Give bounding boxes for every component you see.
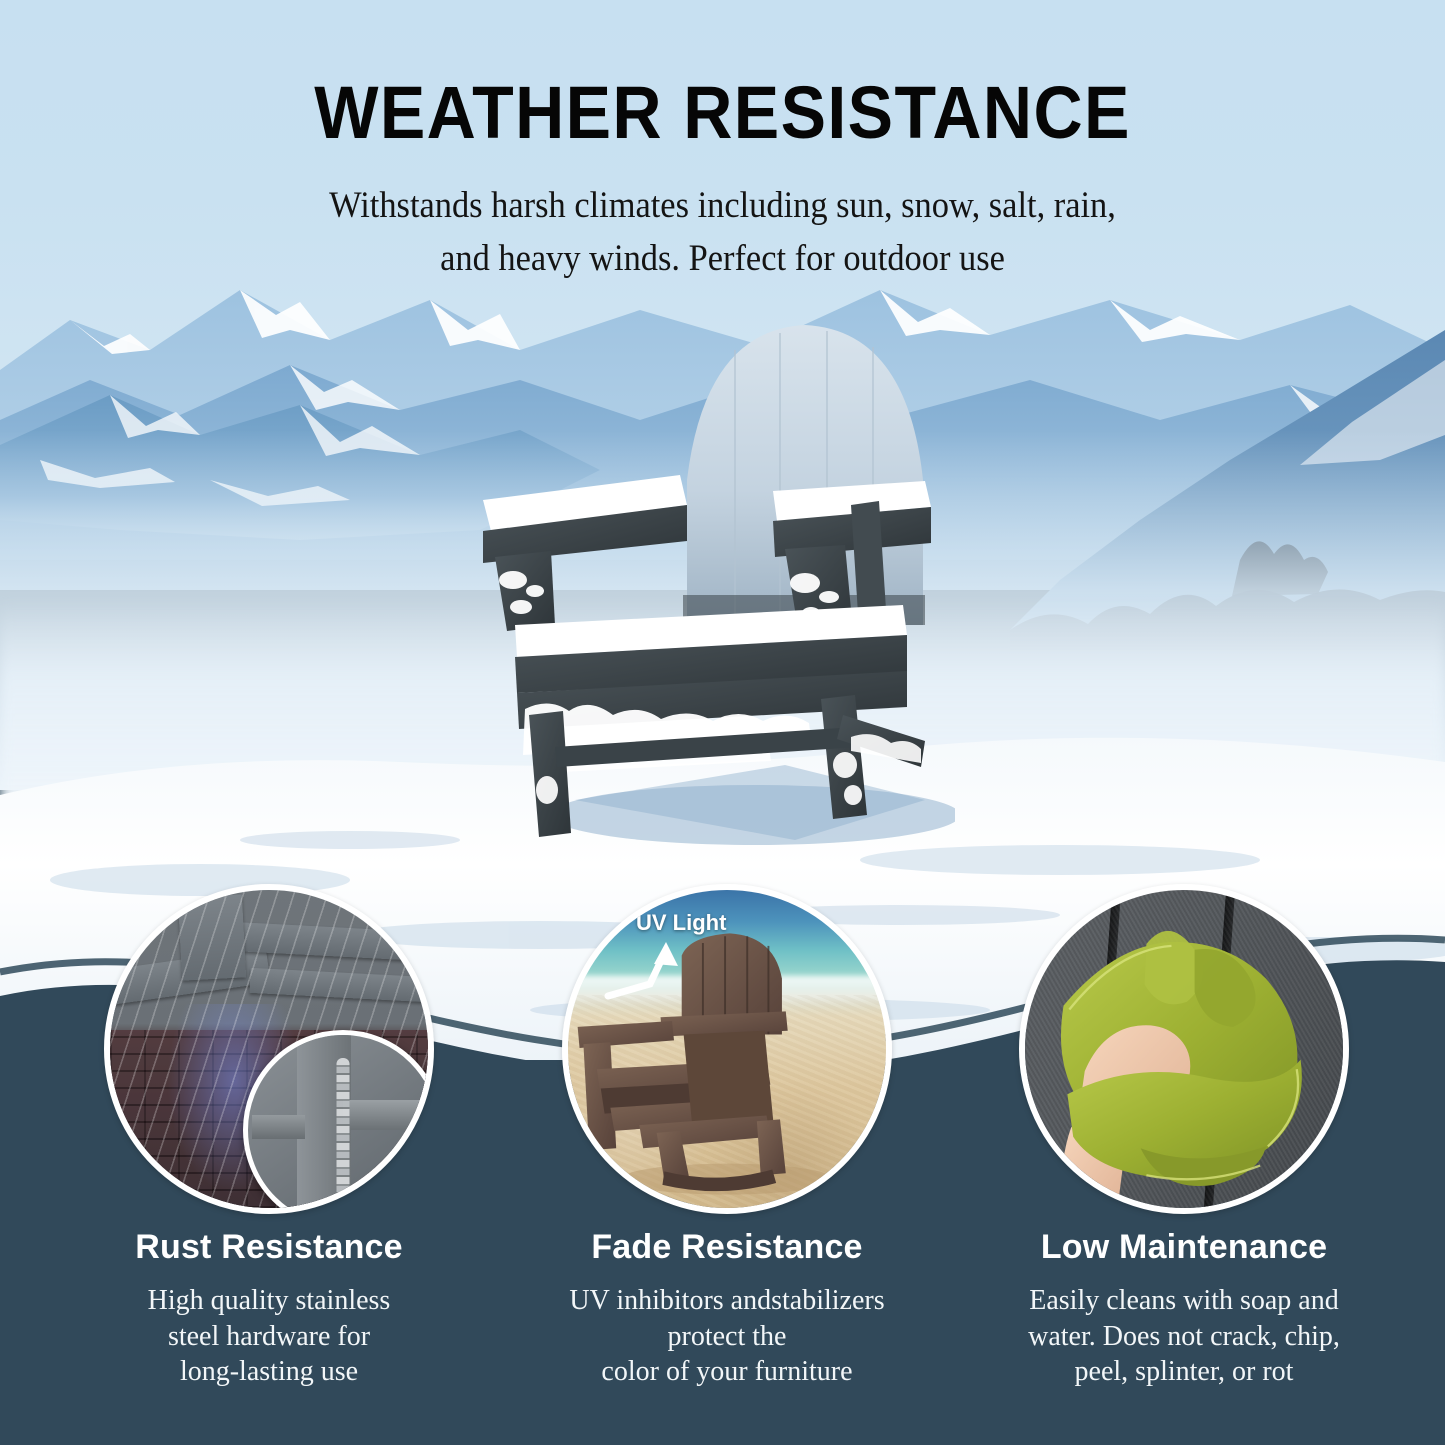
- page-subtitle: Withstands harsh climates including sun,…: [51, 180, 1395, 285]
- feature-body: High quality stainless steel hardware fo…: [59, 1283, 479, 1390]
- feature-text-fade-resistance: Fade Resistance UV inhibitors andstabili…: [517, 1228, 937, 1390]
- inset-bracket: [343, 1100, 434, 1130]
- page-title: WEATHER RESISTANCE: [58, 76, 1387, 150]
- feature-heading: Low Maintenance: [974, 1228, 1394, 1267]
- feature-image-low-maintenance: [1019, 884, 1349, 1214]
- feature-image-rust-resistance: [104, 884, 434, 1214]
- adirondack-chair-snow: [455, 295, 955, 855]
- feature-heading: Fade Resistance: [517, 1228, 937, 1267]
- feature-body-line: water. Does not crack, chip,: [974, 1319, 1394, 1355]
- feature-body: Easily cleans with soap and water. Does …: [974, 1283, 1394, 1390]
- stainless-chain-icon: [337, 1058, 350, 1206]
- infographic-poster: WEATHER RESISTANCE Withstands harsh clim…: [0, 0, 1445, 1445]
- feature-body-line: protect the: [517, 1319, 937, 1355]
- feature-text-rust-resistance: Rust Resistance High quality stainless s…: [59, 1228, 479, 1390]
- hand-with-cloth: [1025, 890, 1343, 1208]
- feature-body-line: steel hardware for: [59, 1319, 479, 1355]
- uv-light-label: UV Light: [636, 910, 726, 936]
- uv-light-arrow-icon: [604, 934, 724, 1012]
- header: WEATHER RESISTANCE Withstands harsh clim…: [0, 0, 1445, 285]
- feature-text-low-maintenance: Low Maintenance Easily cleans with soap …: [974, 1228, 1394, 1390]
- feature-body-line: peel, splinter, or rot: [974, 1354, 1394, 1390]
- feature-body-line: long-lasting use: [59, 1354, 479, 1390]
- feature-heading: Rust Resistance: [59, 1228, 479, 1267]
- feature-image-fade-resistance: UV Light: [562, 884, 892, 1214]
- feature-body-line: Easily cleans with soap and: [974, 1283, 1394, 1319]
- feature-body-line: color of your furniture: [517, 1354, 937, 1390]
- subtitle-line-2: and heavy winds. Perfect for outdoor use: [51, 233, 1395, 286]
- feature-body: UV inhibitors andstabilizers protect the…: [517, 1283, 937, 1390]
- feature-body-line: UV inhibitors andstabilizers: [517, 1283, 937, 1319]
- feature-body-line: High quality stainless: [59, 1283, 479, 1319]
- inset-bracket: [252, 1115, 305, 1140]
- subtitle-line-1: Withstands harsh climates including sun,…: [51, 180, 1395, 233]
